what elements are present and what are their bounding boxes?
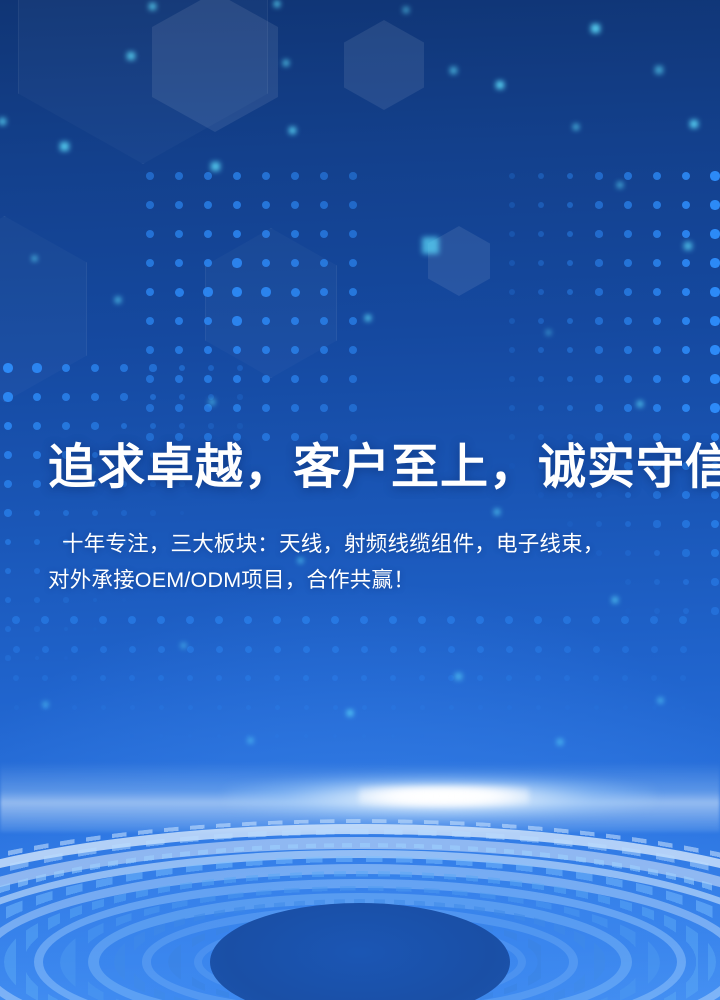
- radar-ring: [88, 893, 632, 1000]
- glow-spark: [573, 124, 579, 130]
- glow-spark: [450, 67, 457, 74]
- glow-spark: [684, 242, 692, 250]
- radar-core: [210, 903, 510, 1000]
- glow-spark: [127, 52, 135, 60]
- glow-spark: [690, 120, 698, 128]
- glow-spark: [591, 24, 600, 33]
- glow-spark: [181, 643, 186, 648]
- subtitle-line-2: 对外承接OEM/ODM项目，合作共赢！: [48, 568, 415, 592]
- glow-spark: [455, 673, 462, 680]
- page-title: 追求卓越，客户至上，诚实守信: [48, 438, 672, 498]
- radar-ring: [142, 906, 578, 1000]
- radar-ring: [0, 864, 720, 1000]
- glow-spark: [274, 1, 280, 7]
- glow-spark: [422, 237, 439, 254]
- hexagon-filled-right: [344, 20, 424, 110]
- glow-spark: [149, 3, 156, 10]
- glow-spark: [209, 399, 215, 405]
- glow-spark: [658, 698, 663, 703]
- glow-spark: [289, 127, 296, 134]
- glow-spark: [403, 7, 409, 13]
- subtitle-line-1: 十年专注，三大板块：天线，射频线缆组件，电子线束，: [62, 532, 605, 556]
- glow-spark: [211, 162, 220, 171]
- glow-spark: [637, 401, 643, 407]
- glow-spark: [496, 81, 504, 89]
- glow-spark: [32, 256, 37, 261]
- hexagon-outline-left: [0, 216, 87, 402]
- promo-banner: 追求卓越，客户至上，诚实守信 十年专注，三大板块：天线，射频线缆组件，电子线束，…: [0, 0, 720, 1000]
- radar-ring: [0, 829, 720, 1000]
- glow-spark: [43, 702, 48, 707]
- radar-ring: [0, 824, 720, 1000]
- radar-ring: [0, 850, 720, 1000]
- glow-spark: [347, 710, 353, 716]
- light-flare-core: [359, 786, 529, 806]
- radar-ring: [4, 871, 716, 1000]
- banner-copy: 追求卓越，客户至上，诚实守信 十年专注，三大板块：天线，射频线缆组件，电子线束，…: [0, 438, 720, 598]
- glow-spark: [546, 330, 551, 335]
- radar-ring: [168, 913, 552, 1000]
- glow-spark: [617, 182, 623, 188]
- radar-ring: [34, 879, 686, 1000]
- hexagon-outline-mid: [205, 228, 337, 378]
- radar-ring: [114, 899, 606, 1000]
- glow-spark: [115, 297, 121, 303]
- glow-spark: [0, 118, 6, 125]
- radar-ring: [0, 837, 720, 1000]
- glow-spark: [557, 739, 563, 745]
- radar-ring: [0, 843, 720, 1000]
- glow-spark: [655, 66, 663, 74]
- radar-ring: [194, 920, 526, 1000]
- radar-ring: [218, 926, 502, 998]
- radar-ring: [60, 886, 660, 1000]
- radar-ring: [242, 932, 478, 992]
- glow-spark: [283, 60, 289, 66]
- glow-spark: [365, 315, 371, 321]
- glow-spark: [248, 738, 253, 743]
- glow-spark: [60, 142, 69, 151]
- radar-ring: [0, 819, 720, 1000]
- banner-subtitle: 十年专注，三大板块：天线，射频线缆组件，电子线束， 对外承接OEM/ODM项目，…: [48, 526, 672, 598]
- radar-ring: [0, 856, 720, 1000]
- radar-ring: [264, 938, 456, 987]
